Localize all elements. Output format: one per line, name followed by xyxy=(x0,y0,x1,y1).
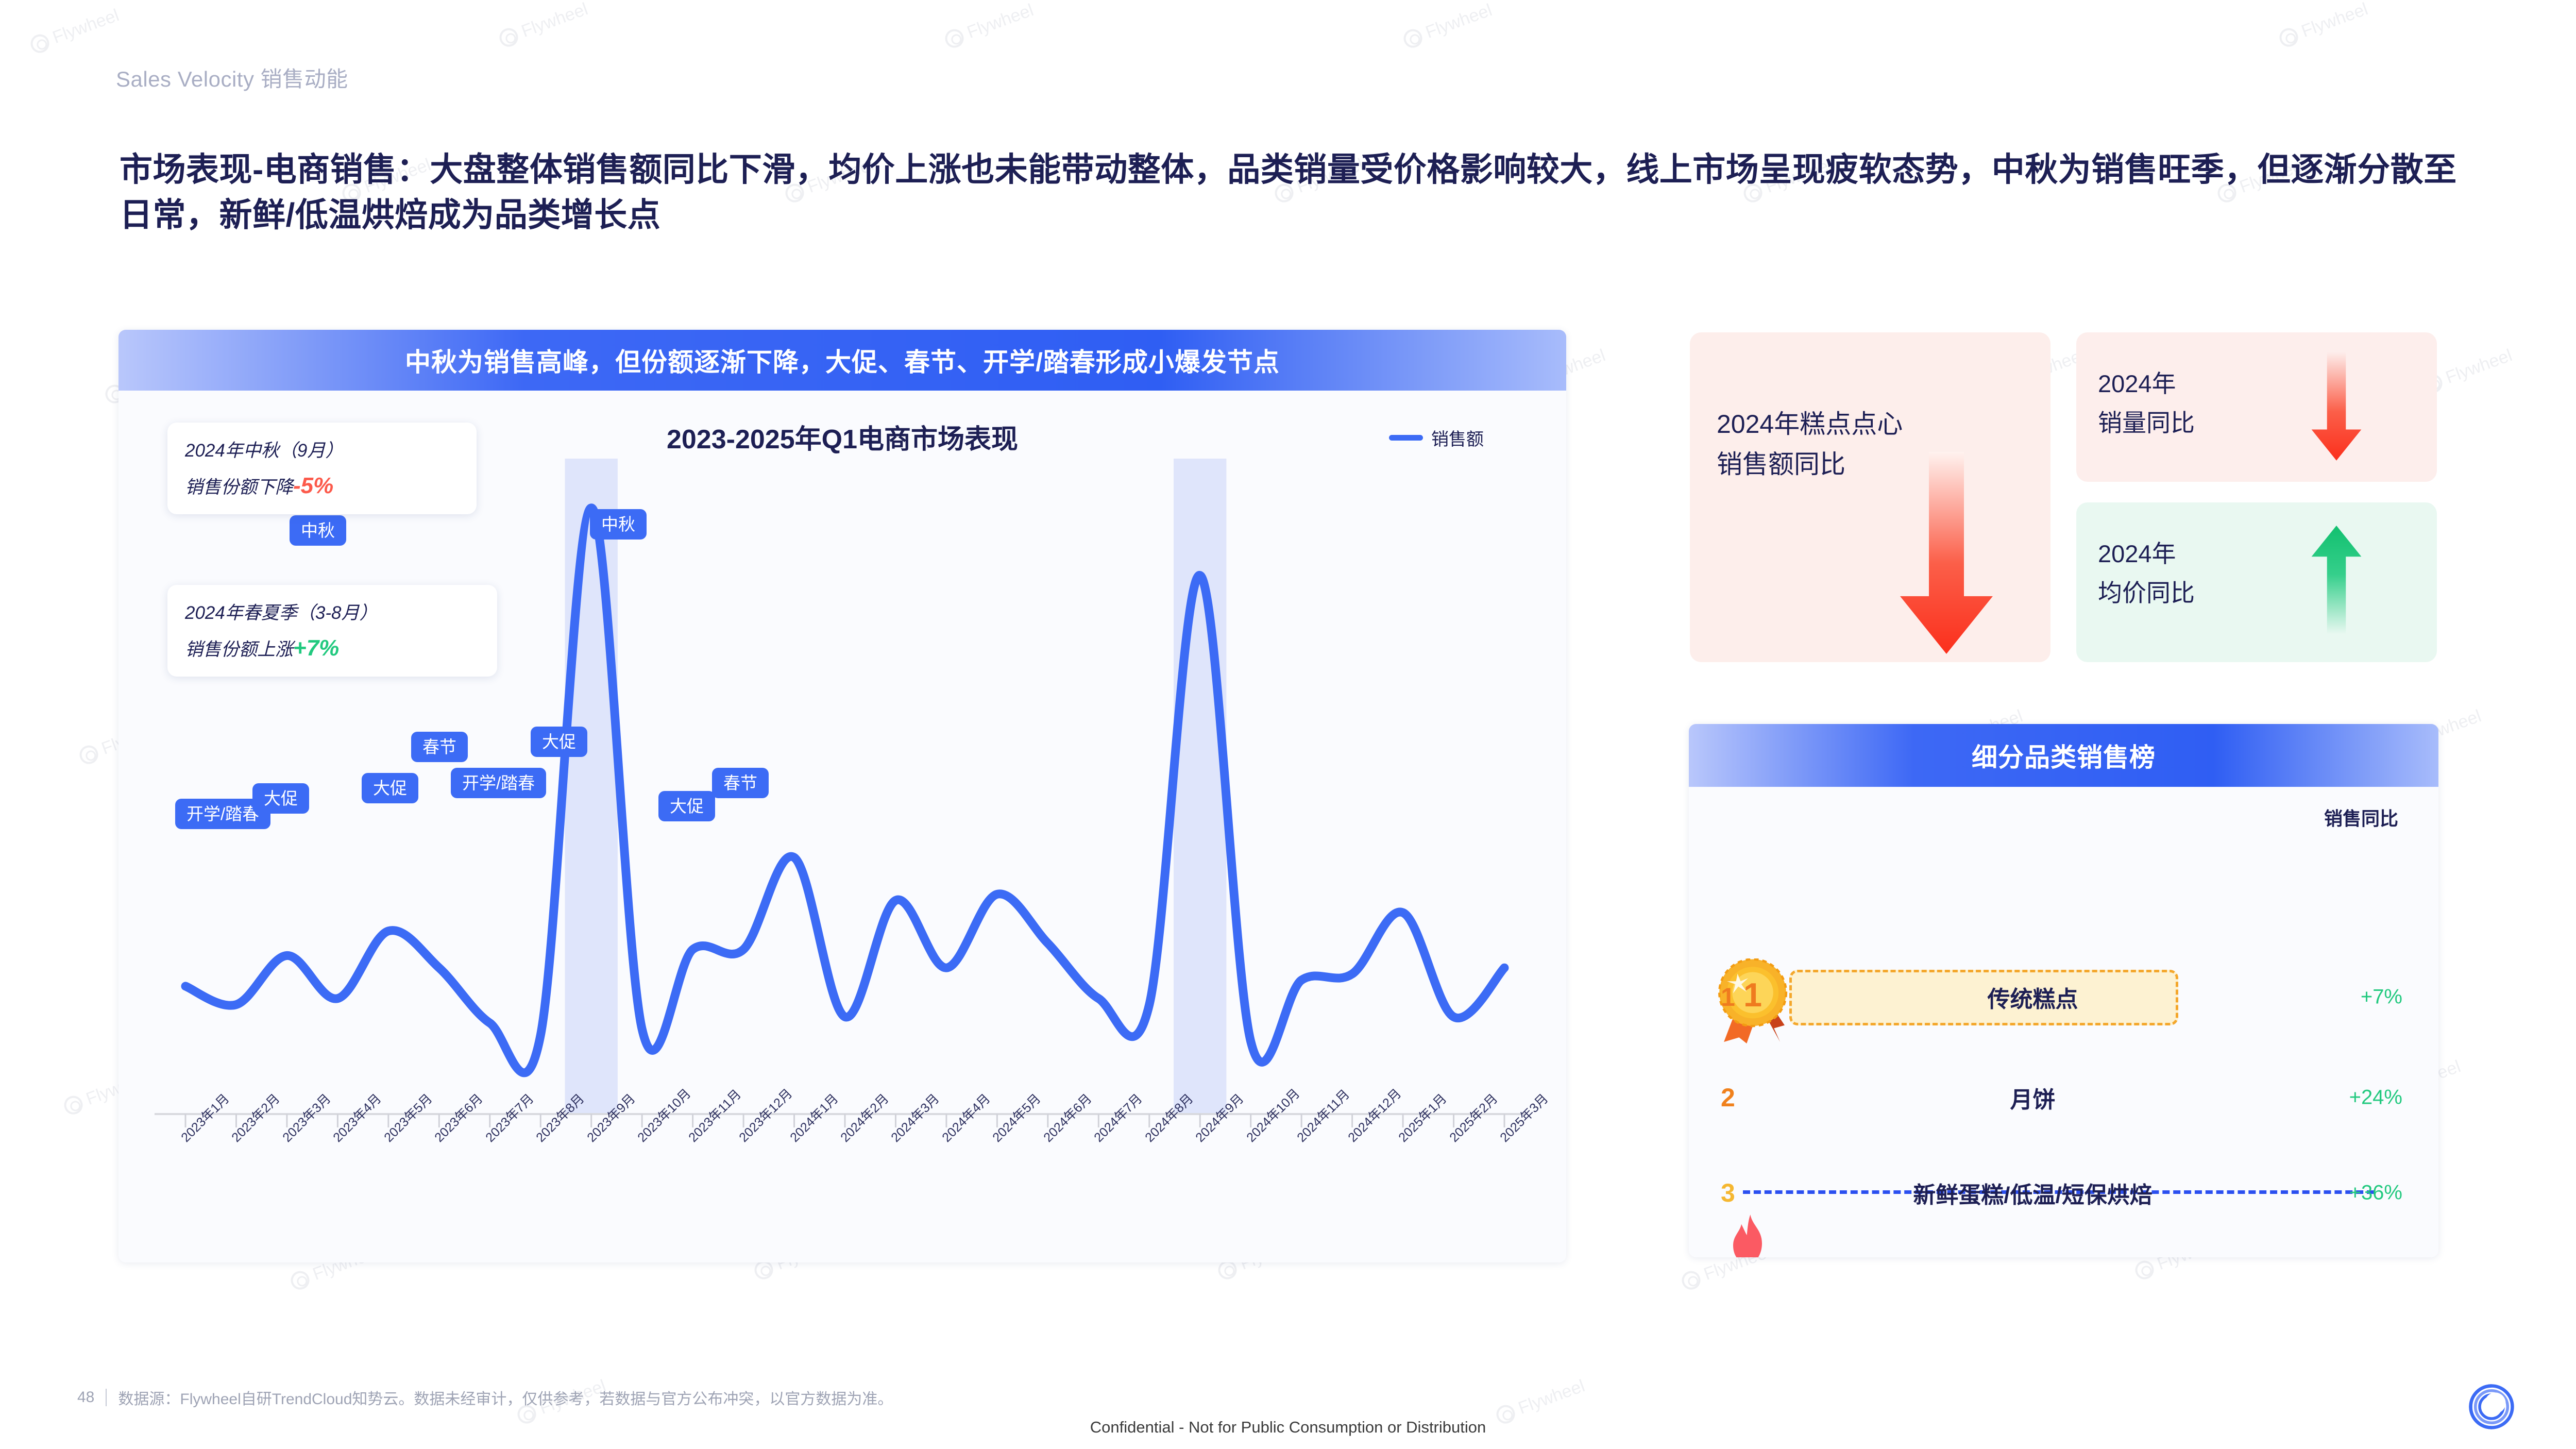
watermark: Flywheel xyxy=(28,5,122,56)
rank-row[interactable]: 3新鲜蛋糕/低温/短保烘焙+36% xyxy=(1689,1159,2438,1226)
watermark-text: Flywheel xyxy=(519,0,590,42)
watermark-ring-icon xyxy=(1679,1268,1703,1292)
sales-line-chart xyxy=(118,459,1566,1195)
chart-callout: 2024年中秋（9月）销售份额下降-5% xyxy=(167,423,477,514)
rank-category-name: 月饼 xyxy=(1782,1081,2284,1114)
watermark: Flywheel xyxy=(497,0,591,50)
chart-event-tag: 春节 xyxy=(712,768,769,798)
rank-card-title: 细分品类销售榜 xyxy=(1689,724,2438,787)
chart-banner-title: 中秋为销售高峰，但份额逐渐下降，大促、春节、开学/踏春形成小爆发节点 xyxy=(118,330,1566,391)
chart-event-tag: 大促 xyxy=(658,791,715,821)
highlight-band xyxy=(1174,459,1226,1114)
watermark-ring-icon xyxy=(942,26,966,50)
rank-row[interactable]: 1传统糕点+7% xyxy=(1689,964,2438,1031)
watermark-text: Flywheel xyxy=(50,5,122,48)
rank-row[interactable]: 新鲜蛋糕/低温/短保烘焙+36% xyxy=(1689,1247,2438,1257)
watermark-ring-icon xyxy=(1401,26,1425,50)
chart-event-tag: 大促 xyxy=(362,773,418,803)
rank-category-name: 传统糕点 xyxy=(1782,981,2284,1014)
chart-callout: 2024年春夏季（3-8月）销售份额上涨+7% xyxy=(167,585,497,677)
kpi-card-sales-yoy: 2024年糕点点心销售额同比 xyxy=(1690,332,2050,662)
kpi-card-price-yoy: 2024年均价同比 xyxy=(2076,502,2437,662)
watermark-text: Flywheel xyxy=(2443,345,2515,388)
confidential-notice: Confidential - Not for Public Consumptio… xyxy=(0,1418,2576,1437)
rank-position: 1 xyxy=(1721,982,1735,1012)
watermark-ring-icon xyxy=(61,1093,85,1117)
watermark-ring-icon xyxy=(2277,25,2300,49)
footer-source: 数据源：Flywheel自研TrendCloud知势云。数据未经审计，仅供参考，… xyxy=(118,1386,893,1409)
callout-title: 2024年春夏季（3-8月） xyxy=(185,598,480,625)
deck-section-label: Sales Velocity 销售动能 xyxy=(116,62,348,93)
page-title: 市场表现-电商销售：大盘整体销售额同比下滑，均价上涨也未能带动整体，品类销量受价… xyxy=(120,147,2489,238)
page-number: 48 xyxy=(77,1389,94,1406)
chart-card: 中秋为销售高峰，但份额逐渐下降，大促、春节、开学/踏春形成小爆发节点 2023-… xyxy=(118,330,1566,1262)
line-chart-plot xyxy=(118,459,1566,1195)
rank-yoy-value: +7% xyxy=(2361,986,2402,1009)
arrow-down-icon xyxy=(2303,352,2370,463)
watermark-ring-icon xyxy=(288,1268,312,1292)
callout-title: 2024年中秋（9月） xyxy=(185,436,459,462)
arrow-down-icon xyxy=(1895,452,1998,658)
callout-value-line: 销售份额下降-5% xyxy=(185,473,459,499)
rank-yoy-value: +24% xyxy=(2349,1086,2402,1109)
watermark-text: Flywheel xyxy=(964,0,1036,43)
watermark-ring-icon xyxy=(28,31,52,55)
callout-value-label: 销售份额下降 xyxy=(185,477,293,497)
kpi-volume-label: 2024年销量同比 xyxy=(2098,364,2195,443)
kpi-price-label: 2024年均价同比 xyxy=(2098,534,2195,613)
callout-value: -5% xyxy=(293,473,333,498)
watermark-text: Flywheel xyxy=(1423,0,1495,43)
chart-event-tag: 中秋 xyxy=(590,509,647,540)
watermark-ring-icon xyxy=(2132,1258,2156,1282)
rank-position: 2 xyxy=(1721,1083,1735,1113)
rank-yoy-value: +36% xyxy=(2349,1182,2402,1205)
callout-value-label: 销售份额上涨 xyxy=(185,639,293,660)
chart-event-tag: 开学/踏春 xyxy=(451,768,546,798)
chart-event-tag: 大促 xyxy=(252,783,309,814)
watermark-ring-icon xyxy=(497,25,520,49)
watermark: Flywheel xyxy=(1401,0,1495,50)
chart-event-tag: 春节 xyxy=(411,732,468,762)
arrow-up-icon xyxy=(2303,526,2370,636)
watermark-text: Flywheel xyxy=(1516,1376,1587,1419)
chart-event-tag: 大促 xyxy=(531,727,587,757)
legend-swatch-sales xyxy=(1389,435,1423,441)
footer: 48 数据源：Flywheel自研TrendCloud知势云。数据未经审计，仅供… xyxy=(77,1386,893,1409)
watermark: Flywheel xyxy=(942,0,1037,50)
footer-divider xyxy=(106,1389,107,1406)
watermark-text: Flywheel xyxy=(2299,0,2370,42)
category-rank-card: 细分品类销售榜 销售同比 1 1传统糕点+7%2月饼+24%3新鲜蛋糕/低温/短… xyxy=(1689,724,2438,1257)
legend-label-sales: 销售额 xyxy=(1431,425,1484,450)
callout-value: +7% xyxy=(293,635,339,661)
chart-x-axis: 2023年1月2023年2月2023年3月2023年4月2023年5月2023年… xyxy=(0,1133,1448,1236)
watermark: Flywheel xyxy=(2277,0,2371,50)
flywheel-logo-icon xyxy=(2468,1383,2515,1430)
highlight-band xyxy=(565,459,618,1114)
chart-event-tag: 中秋 xyxy=(290,515,346,546)
rank-column-header: 销售同比 xyxy=(2324,804,2398,831)
chart-legend: 销售额 xyxy=(1389,425,1484,450)
callout-value-line: 销售份额上涨+7% xyxy=(185,635,480,661)
rank-category-name: 新鲜蛋糕/低温/短保烘焙 xyxy=(1782,1176,2284,1209)
rank-position: 3 xyxy=(1721,1178,1735,1208)
rank-row[interactable]: 2月饼+24% xyxy=(1689,1064,2438,1131)
kpi-card-volume-yoy: 2024年销量同比 xyxy=(2076,332,2437,482)
kpi-main-label: 2024年糕点点心销售额同比 xyxy=(1717,405,1903,484)
watermark-ring-icon xyxy=(77,743,100,766)
